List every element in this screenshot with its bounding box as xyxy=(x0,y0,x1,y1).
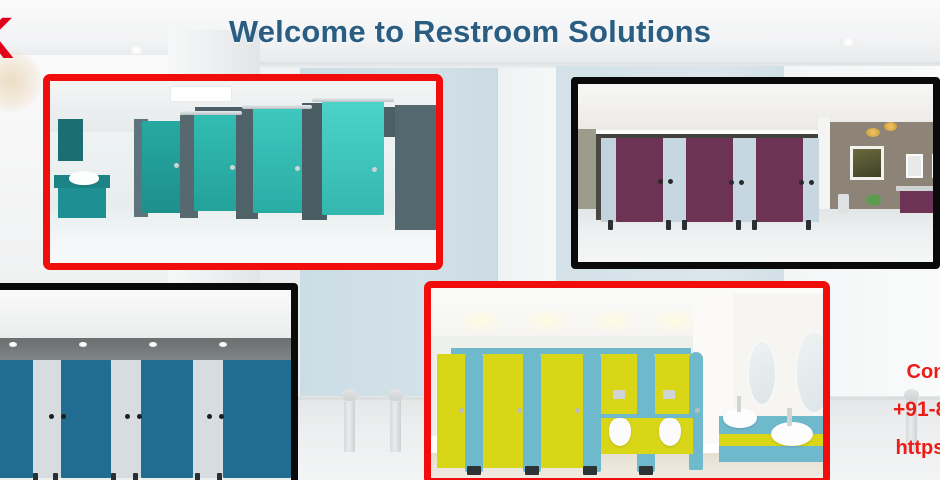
contact-line-1: Con xyxy=(826,362,940,382)
door-lock-icon xyxy=(668,179,673,184)
wall-mirror xyxy=(906,154,923,178)
cubicle-pilaster xyxy=(583,348,601,472)
ceiling-spotlight-icon xyxy=(655,310,695,332)
door-lock-icon xyxy=(729,180,734,185)
flush-plate xyxy=(663,390,675,399)
wall-cabinet xyxy=(58,119,83,161)
ceiling-light-icon xyxy=(219,342,227,347)
door-rail xyxy=(312,98,394,102)
ceiling-soffit xyxy=(0,338,291,361)
cubicle-leg xyxy=(752,220,757,230)
cubicle-pilaster xyxy=(601,138,616,222)
wall-mirror xyxy=(747,340,777,406)
cubicle-leg xyxy=(736,220,741,230)
cubicle-leg xyxy=(525,466,539,475)
photo-blue-cubicles xyxy=(0,290,291,480)
pendant-lamp xyxy=(866,128,880,137)
door-rail xyxy=(242,105,312,109)
door-knob-icon xyxy=(295,166,300,171)
waste-bin xyxy=(838,194,849,213)
potted-plant xyxy=(866,194,881,206)
door-rail xyxy=(180,111,242,115)
door-lock-icon xyxy=(61,414,66,419)
door-knob-icon xyxy=(517,408,522,413)
gallery-image-blue-cubicles[interactable] xyxy=(0,283,298,480)
door-lock-icon xyxy=(809,180,814,185)
contact-url[interactable]: https:/ xyxy=(826,438,940,458)
slide-canvas: K ONS Welcome to Restroom Solutions xyxy=(0,0,940,480)
cubicle-leg xyxy=(666,220,671,230)
cubicle-pilaster xyxy=(733,138,756,222)
door-knob-icon xyxy=(174,163,179,168)
toilet-pan xyxy=(609,418,631,446)
cubicle-door xyxy=(616,138,663,222)
door-lock-icon xyxy=(219,414,224,419)
ceiling-light-panel-icon xyxy=(170,86,232,102)
cubicle-leg xyxy=(33,473,38,480)
toilet-pan xyxy=(659,418,681,446)
wall-mirror xyxy=(932,154,933,178)
cubicle-door xyxy=(756,138,803,222)
cubicle-leg xyxy=(806,220,811,230)
ceiling-spotlight-icon xyxy=(527,310,567,332)
washbasin xyxy=(69,171,99,185)
cubicle-pilaster xyxy=(193,360,223,478)
cubicle-leg xyxy=(133,473,138,480)
cubicle-pilaster xyxy=(523,348,541,472)
gallery-image-kids-cubicles[interactable] xyxy=(424,281,830,480)
bollard-post xyxy=(344,394,355,452)
pendant-lamp xyxy=(884,122,897,131)
door-knob-icon xyxy=(459,408,464,413)
cubicle-door xyxy=(0,360,33,478)
cubicle-door xyxy=(655,354,693,416)
cubicle-pilaster xyxy=(111,360,141,478)
cubicle-pilaster xyxy=(465,348,483,472)
contact-block[interactable]: Con +91-88 https:/ xyxy=(826,362,940,458)
door-lock-icon xyxy=(207,414,212,419)
cubicle-leg xyxy=(608,220,613,230)
side-wall xyxy=(578,129,596,219)
cubicle-pilaster xyxy=(33,360,61,478)
ceiling-spotlight-icon xyxy=(461,310,501,332)
photo-teal-cubicles xyxy=(50,81,436,263)
door-lock-icon xyxy=(125,414,130,419)
cubicle-door xyxy=(223,360,291,478)
door-lock-icon xyxy=(49,414,54,419)
cubicle-door xyxy=(686,138,733,222)
tap-icon xyxy=(737,396,741,412)
washbasin xyxy=(771,422,813,446)
cubicle-door xyxy=(61,360,111,478)
cubicle-leg xyxy=(583,466,597,475)
cubicle-leg xyxy=(467,466,481,475)
ceiling-spotlight-icon xyxy=(593,310,633,332)
gallery-image-plum-cubicles[interactable] xyxy=(571,77,940,269)
tap-icon xyxy=(787,408,792,426)
cubicle-leg xyxy=(53,473,58,480)
door-lock-icon xyxy=(799,180,804,185)
door-knob-icon xyxy=(695,408,700,413)
door-lock-icon xyxy=(658,179,663,184)
ceiling-light-icon xyxy=(149,342,157,347)
door-lock-icon xyxy=(137,414,142,419)
flush-plate xyxy=(613,390,625,399)
door-knob-icon xyxy=(230,165,235,170)
ceiling-light-icon xyxy=(79,342,87,347)
cubicle-door xyxy=(253,107,309,213)
cubicle-door xyxy=(141,360,193,478)
bollard-post xyxy=(390,394,401,452)
end-panel xyxy=(395,105,436,230)
photo-plum-cubicles xyxy=(578,84,933,262)
cubicle-pilaster xyxy=(663,138,686,222)
cubicle-leg xyxy=(217,473,222,480)
cubicle-leg xyxy=(111,473,116,480)
ceiling-light-icon xyxy=(9,342,17,347)
gallery-image-teal-cubicles[interactable] xyxy=(43,74,443,270)
wall-column xyxy=(818,117,830,221)
vanity-base xyxy=(58,188,106,218)
vanity-base xyxy=(900,191,933,213)
page-title: Welcome to Restroom Solutions xyxy=(0,14,940,50)
cubicle-leg xyxy=(195,473,200,480)
door-lock-icon xyxy=(739,180,744,185)
cubicle-door xyxy=(322,101,384,215)
cubicle-door xyxy=(541,354,589,468)
photo-kids-cubicles xyxy=(431,288,823,478)
contact-phone: +91-88 xyxy=(826,399,940,420)
cubicle-door xyxy=(194,113,242,211)
cubicle-leg xyxy=(639,466,653,475)
vanity-base xyxy=(719,446,823,462)
cubicle-leg xyxy=(682,220,687,230)
wall-artwork xyxy=(850,146,884,180)
door-knob-icon xyxy=(372,167,377,172)
door-knob-icon xyxy=(575,408,580,413)
